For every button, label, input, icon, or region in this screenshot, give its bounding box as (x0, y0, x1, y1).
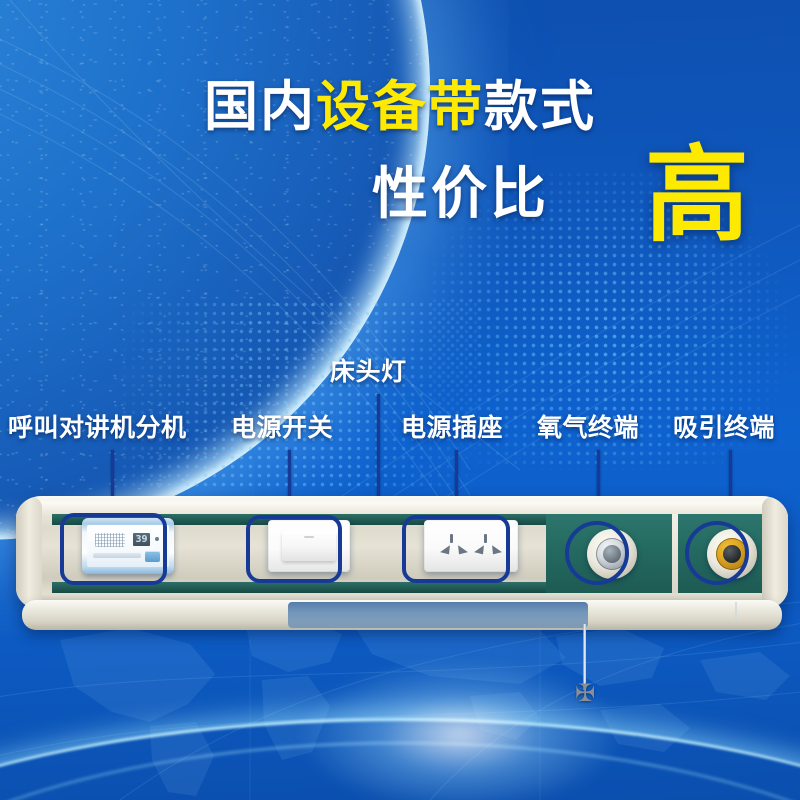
highlight-power-socket[interactable] (402, 515, 510, 583)
highlight-power-switch[interactable] (246, 515, 342, 583)
highlight-suction-terminal[interactable] (685, 521, 749, 585)
suction-tube-stub (735, 602, 737, 620)
callout-label-power-socket: 电源插座 (401, 416, 503, 441)
callout-label-bedside-lamp: 床头灯 (330, 360, 407, 385)
product-banner: 国内设备带款式 性价比 高 呼叫对讲机分机 电源开关 床头灯 电源插座 氧气终端… (0, 0, 800, 800)
halftone-dots-left (120, 300, 480, 490)
panel-endcap-left (16, 496, 42, 610)
panel-endcap-right (762, 496, 788, 610)
highlight-oxygen-terminal[interactable] (565, 521, 629, 585)
pull-cord-cross-fitting-icon: ✠ (573, 682, 597, 706)
callout-label-oxygen-terminal: 氧气终端 (537, 416, 639, 441)
panel-rail-shadow-strip (288, 602, 588, 628)
horizon-glow (300, 660, 620, 800)
callout-label-suction-terminal: 吸引终端 (673, 416, 775, 441)
highlight-nurse-call-intercom[interactable] (60, 513, 167, 585)
callout-label-nurse-call-intercom: 呼叫对讲机分机 (8, 416, 187, 441)
callout-label-power-switch: 电源开关 (231, 416, 333, 441)
